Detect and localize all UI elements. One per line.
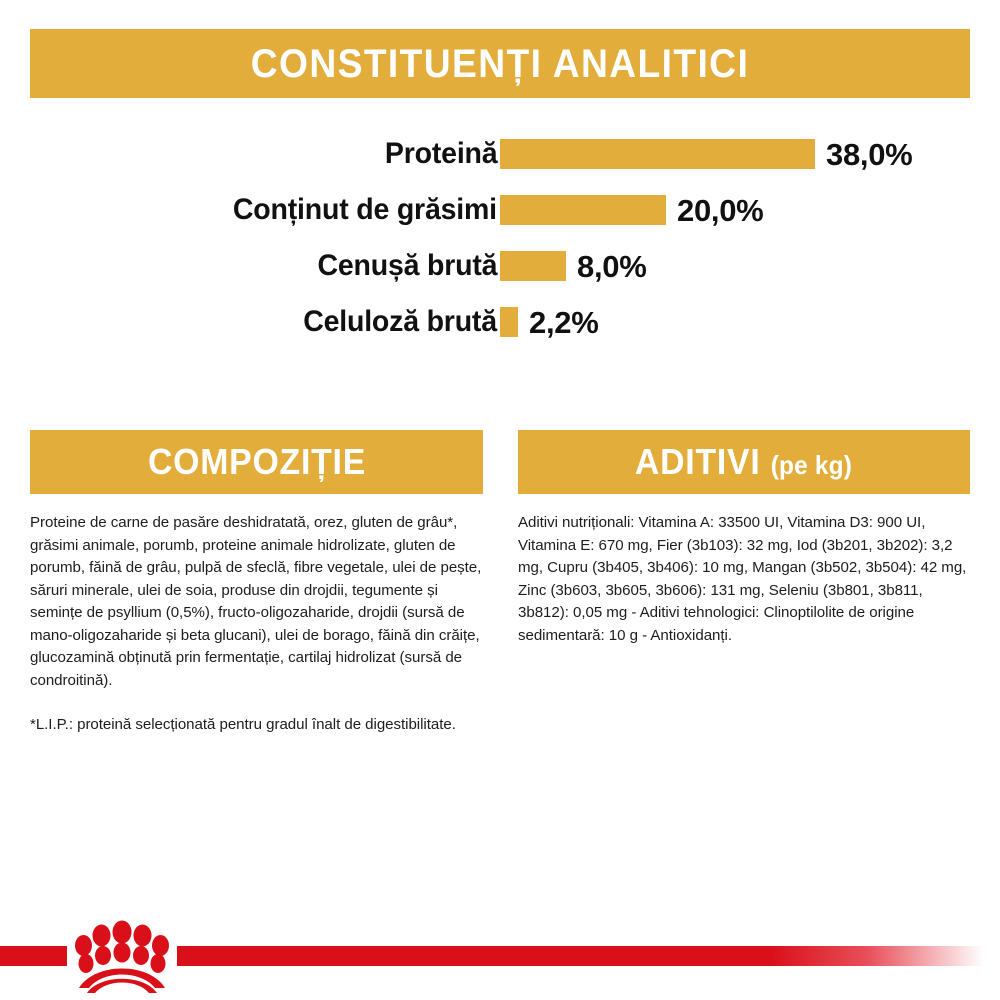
- chart-row: Conținut de grăsimi 20,0%: [0, 188, 1000, 232]
- chart-bar: [500, 307, 518, 337]
- additives-panel-header: ADITIVI (pe kg): [518, 430, 970, 494]
- chart-bar-group: 20,0%: [500, 195, 763, 225]
- additives-panel-title: ADITIVI (pe kg): [635, 444, 852, 480]
- royal-canin-crown-icon: [67, 918, 177, 994]
- footer: [0, 910, 1000, 1000]
- chart-category-label: Conținut de grăsimi: [233, 193, 497, 227]
- composition-ingredients-text: Proteine de carne de pasăre deshidratată…: [30, 512, 483, 692]
- analytical-constituents-banner: CONSTITUENȚI ANALITICI: [30, 29, 970, 98]
- composition-lip-footnote: *L.I.P.: proteină selecționată pentru gr…: [30, 714, 483, 737]
- page-title: CONSTITUENȚI ANALITICI: [251, 44, 749, 84]
- footer-rule-right: [177, 946, 1000, 966]
- footer-rule-left: [0, 946, 67, 966]
- analytical-constituents-chart: Proteină 38,0% Conținut de grăsimi 20,0%…: [0, 132, 1000, 362]
- chart-bar: [500, 139, 815, 169]
- chart-category-label: Celuloză brută: [303, 305, 497, 339]
- chart-category-label: Proteină: [384, 137, 497, 171]
- additives-panel-title-sub: (pe kg): [771, 450, 852, 480]
- chart-row: Celuloză brută 2,2%: [0, 300, 1000, 344]
- chart-value-label: 2,2%: [529, 307, 598, 338]
- composition-panel: COMPOZIȚIE Proteine de carne de pasăre d…: [30, 430, 483, 737]
- chart-bar: [500, 251, 566, 281]
- page-root: CONSTITUENȚI ANALITICI Proteină 38,0% Co…: [0, 0, 1000, 1000]
- chart-row: Cenușă brută 8,0%: [0, 244, 1000, 288]
- chart-bar-group: 2,2%: [500, 307, 598, 337]
- chart-category-label: Cenușă brută: [317, 249, 497, 283]
- chart-row: Proteină 38,0%: [0, 132, 1000, 176]
- composition-panel-title: COMPOZIȚIE: [147, 444, 365, 480]
- composition-panel-header: COMPOZIȚIE: [30, 430, 483, 494]
- additives-panel: ADITIVI (pe kg) Aditivi nutriționali: Vi…: [518, 430, 970, 647]
- composition-panel-body: Proteine de carne de pasăre deshidratată…: [30, 494, 483, 737]
- chart-value-label: 8,0%: [577, 251, 646, 282]
- additives-panel-title-main: ADITIVI: [635, 441, 761, 482]
- chart-bar: [500, 195, 666, 225]
- additives-text: Aditivi nutriționali: Vitamina A: 33500 …: [518, 512, 970, 647]
- chart-bar-group: 8,0%: [500, 251, 646, 281]
- chart-value-label: 38,0%: [826, 139, 912, 170]
- chart-bar-group: 38,0%: [500, 139, 912, 169]
- additives-panel-body: Aditivi nutriționali: Vitamina A: 33500 …: [518, 494, 970, 647]
- chart-value-label: 20,0%: [677, 195, 763, 226]
